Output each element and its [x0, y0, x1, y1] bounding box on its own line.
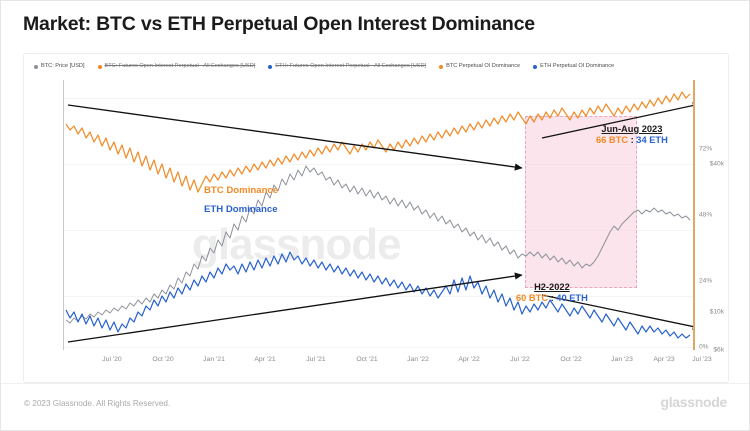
legend-item-btc-futures-oi[interactable]: BTC: Futures Open Interest Perpetual - A… — [98, 64, 256, 70]
annotation-heading: Jun-Aug 2023 — [596, 124, 668, 134]
y-axis-right-tick: 24% — [699, 278, 712, 285]
footer: © 2023 Glassnode. All Rights Reserved. g… — [1, 383, 749, 430]
x-axis-tick: Apr '21 — [254, 356, 275, 363]
y-axis-right-tick: 48% — [699, 212, 712, 219]
legend-item-btc-perp-oi-dominance[interactable]: BTC Perpetual OI Dominance — [439, 64, 520, 70]
x-axis-tick: Oct '21 — [356, 356, 377, 363]
trendline-btc-dominance-down — [68, 105, 522, 168]
x-axis-tick: Apr '22 — [458, 356, 479, 363]
annotation-ratio: 60 BTC : 40 ETH — [516, 293, 588, 303]
plot-area: glassnode — [63, 80, 693, 350]
legend-label: BTC Perpetual OI Dominance — [446, 64, 520, 70]
y-axis-right: 72% 48% 24% 0% — [695, 54, 730, 354]
legend-dot-icon — [439, 65, 443, 69]
x-axis-tick: Jul '21 — [306, 356, 325, 363]
legend-label: BTC: Price [USD] — [41, 64, 85, 70]
copyright-text: © 2023 Glassnode. All Rights Reserved. — [24, 399, 170, 408]
legend-label: BTC: Futures Open Interest Perpetual - A… — [105, 64, 256, 70]
annotation-btc-value: 60 BTC — [516, 293, 548, 303]
inline-label-eth-dominance: ETH Dominance — [204, 204, 278, 215]
inline-label-btc-dominance: BTC Dominance — [204, 185, 278, 196]
annotation-ratio: 66 BTC : 34 ETH — [596, 135, 668, 145]
y-axis-right-tick: 72% — [699, 146, 712, 153]
series-btc-price — [66, 166, 690, 323]
legend-item-btc-price[interactable]: BTC: Price [USD] — [34, 64, 85, 70]
chart-page: Market: BTC vs ETH Perpetual Open Intere… — [0, 0, 750, 431]
legend-dot-icon — [34, 65, 38, 69]
y-axis-right-tick: 0% — [699, 344, 709, 351]
page-title: Market: BTC vs ETH Perpetual Open Intere… — [23, 13, 535, 36]
trendline-eth-dominance-up — [68, 275, 522, 342]
right-axis-line — [693, 80, 695, 350]
annotation-jun-aug-2023: Jun-Aug 2023 66 BTC : 34 ETH — [596, 124, 668, 145]
annotation-h2-2022: H2-2022 60 BTC : 40 ETH — [516, 282, 588, 303]
chart-legend: BTC: Price [USD] BTC: Futures Open Inter… — [34, 60, 722, 74]
x-axis-tick: Jan '22 — [407, 356, 429, 363]
glassnode-logo: glassnode — [660, 394, 727, 410]
legend-label: ETH: Futures Open Interest Perpetual - A… — [275, 64, 426, 70]
x-axis-tick: Jul '23 — [692, 356, 711, 363]
series-canvas — [64, 80, 693, 350]
annotation-eth-value: 40 ETH — [556, 293, 588, 303]
x-axis-tick: Oct '22 — [560, 356, 581, 363]
legend-dot-icon — [98, 65, 102, 69]
x-axis-tick: Apr '23 — [653, 356, 674, 363]
annotation-heading: H2-2022 — [516, 282, 588, 292]
x-axis-tick: Jul '22 — [510, 356, 529, 363]
legend-item-eth-perp-oi-dominance[interactable]: ETH Perpetual OI Dominance — [533, 64, 614, 70]
x-axis-tick: Jan '23 — [611, 356, 633, 363]
legend-dot-icon — [268, 65, 272, 69]
x-axis-tick: Jan '21 — [203, 356, 225, 363]
x-axis-tick: Jul '20 — [102, 356, 121, 363]
legend-dot-icon — [533, 65, 537, 69]
x-axis-tick: Oct '20 — [152, 356, 173, 363]
chart-card: BTC: Price [USD] BTC: Futures Open Inter… — [23, 53, 729, 383]
annotation-btc-value: 66 BTC — [596, 135, 628, 145]
legend-item-eth-futures-oi[interactable]: ETH: Futures Open Interest Perpetual - A… — [268, 64, 426, 70]
annotation-eth-value: 34 ETH — [636, 135, 668, 145]
legend-label: ETH Perpetual OI Dominance — [540, 64, 614, 70]
